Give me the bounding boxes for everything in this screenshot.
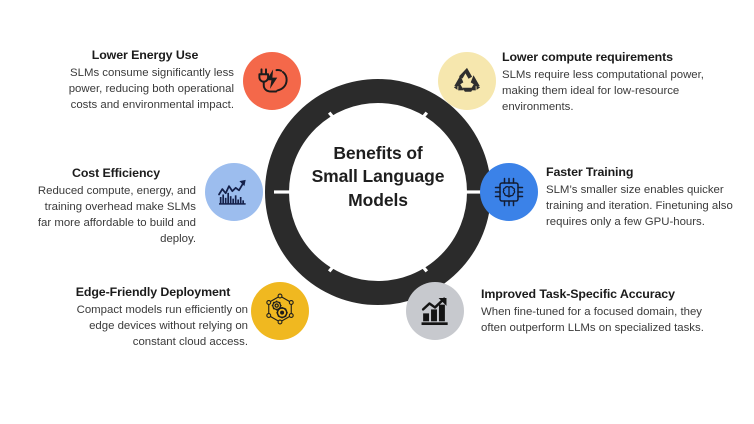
benefit-block-lower-energy-use: Lower Energy Use SLMs consume significan… (56, 48, 234, 113)
center-title-line-3: Models (290, 189, 466, 212)
benefit-body-lower-energy-use: SLMs consume significantly less power, r… (56, 65, 234, 114)
infographic-canvas: Benefits of Small Language Models Lower … (0, 0, 754, 424)
benefit-heading-lower-energy-use: Lower Energy Use (56, 48, 234, 64)
power-plug-bolt-icon (254, 63, 290, 99)
center-title-line-1: Benefits of (290, 142, 466, 165)
benefit-block-improved-task-specific-accuracy: Improved Task-Specific Accuracy When fin… (481, 287, 709, 336)
icon-bubble-lower-compute-requirements[interactable] (438, 52, 496, 110)
recycle-icon (450, 64, 484, 98)
trend-chart-icon (214, 172, 254, 212)
benefit-heading-cost-efficiency: Cost Efficiency (36, 166, 196, 182)
benefit-block-faster-training: Faster Training SLM’s smaller size enabl… (546, 165, 746, 230)
gears-network-icon (260, 291, 300, 331)
center-title: Benefits of Small Language Models (290, 142, 466, 212)
icon-bubble-cost-efficiency[interactable] (205, 163, 263, 221)
benefit-block-cost-efficiency: Cost Efficiency Reduced compute, energy,… (36, 166, 196, 247)
benefit-heading-edge-friendly-deployment: Edge-Friendly Deployment (58, 285, 248, 301)
icon-bubble-edge-friendly-deployment[interactable] (251, 282, 309, 340)
benefit-heading-faster-training: Faster Training (546, 165, 746, 181)
bar-chart-arrow-icon (416, 292, 454, 330)
benefit-heading-lower-compute-requirements: Lower compute requirements (502, 50, 718, 66)
benefit-body-faster-training: SLM’s smaller size enables quicker train… (546, 182, 746, 231)
icon-bubble-improved-task-specific-accuracy[interactable] (406, 282, 464, 340)
icon-bubble-faster-training[interactable] (480, 163, 538, 221)
benefit-body-lower-compute-requirements: SLMs require less computational power, m… (502, 67, 718, 116)
icon-bubble-lower-energy-use[interactable] (243, 52, 301, 110)
center-title-line-2: Small Language (290, 165, 466, 188)
benefit-heading-improved-task-specific-accuracy: Improved Task-Specific Accuracy (481, 287, 709, 303)
benefit-body-improved-task-specific-accuracy: When fine-tuned for a focused domain, th… (481, 304, 709, 336)
benefit-body-cost-efficiency: Reduced compute, energy, and training ov… (36, 183, 196, 248)
benefit-block-edge-friendly-deployment: Edge-Friendly Deployment Compact models … (58, 285, 248, 350)
benefit-body-edge-friendly-deployment: Compact models run efficiently on edge d… (58, 302, 248, 351)
ai-chip-brain-icon (491, 174, 527, 210)
benefit-block-lower-compute-requirements: Lower compute requirements SLMs require … (502, 50, 718, 115)
